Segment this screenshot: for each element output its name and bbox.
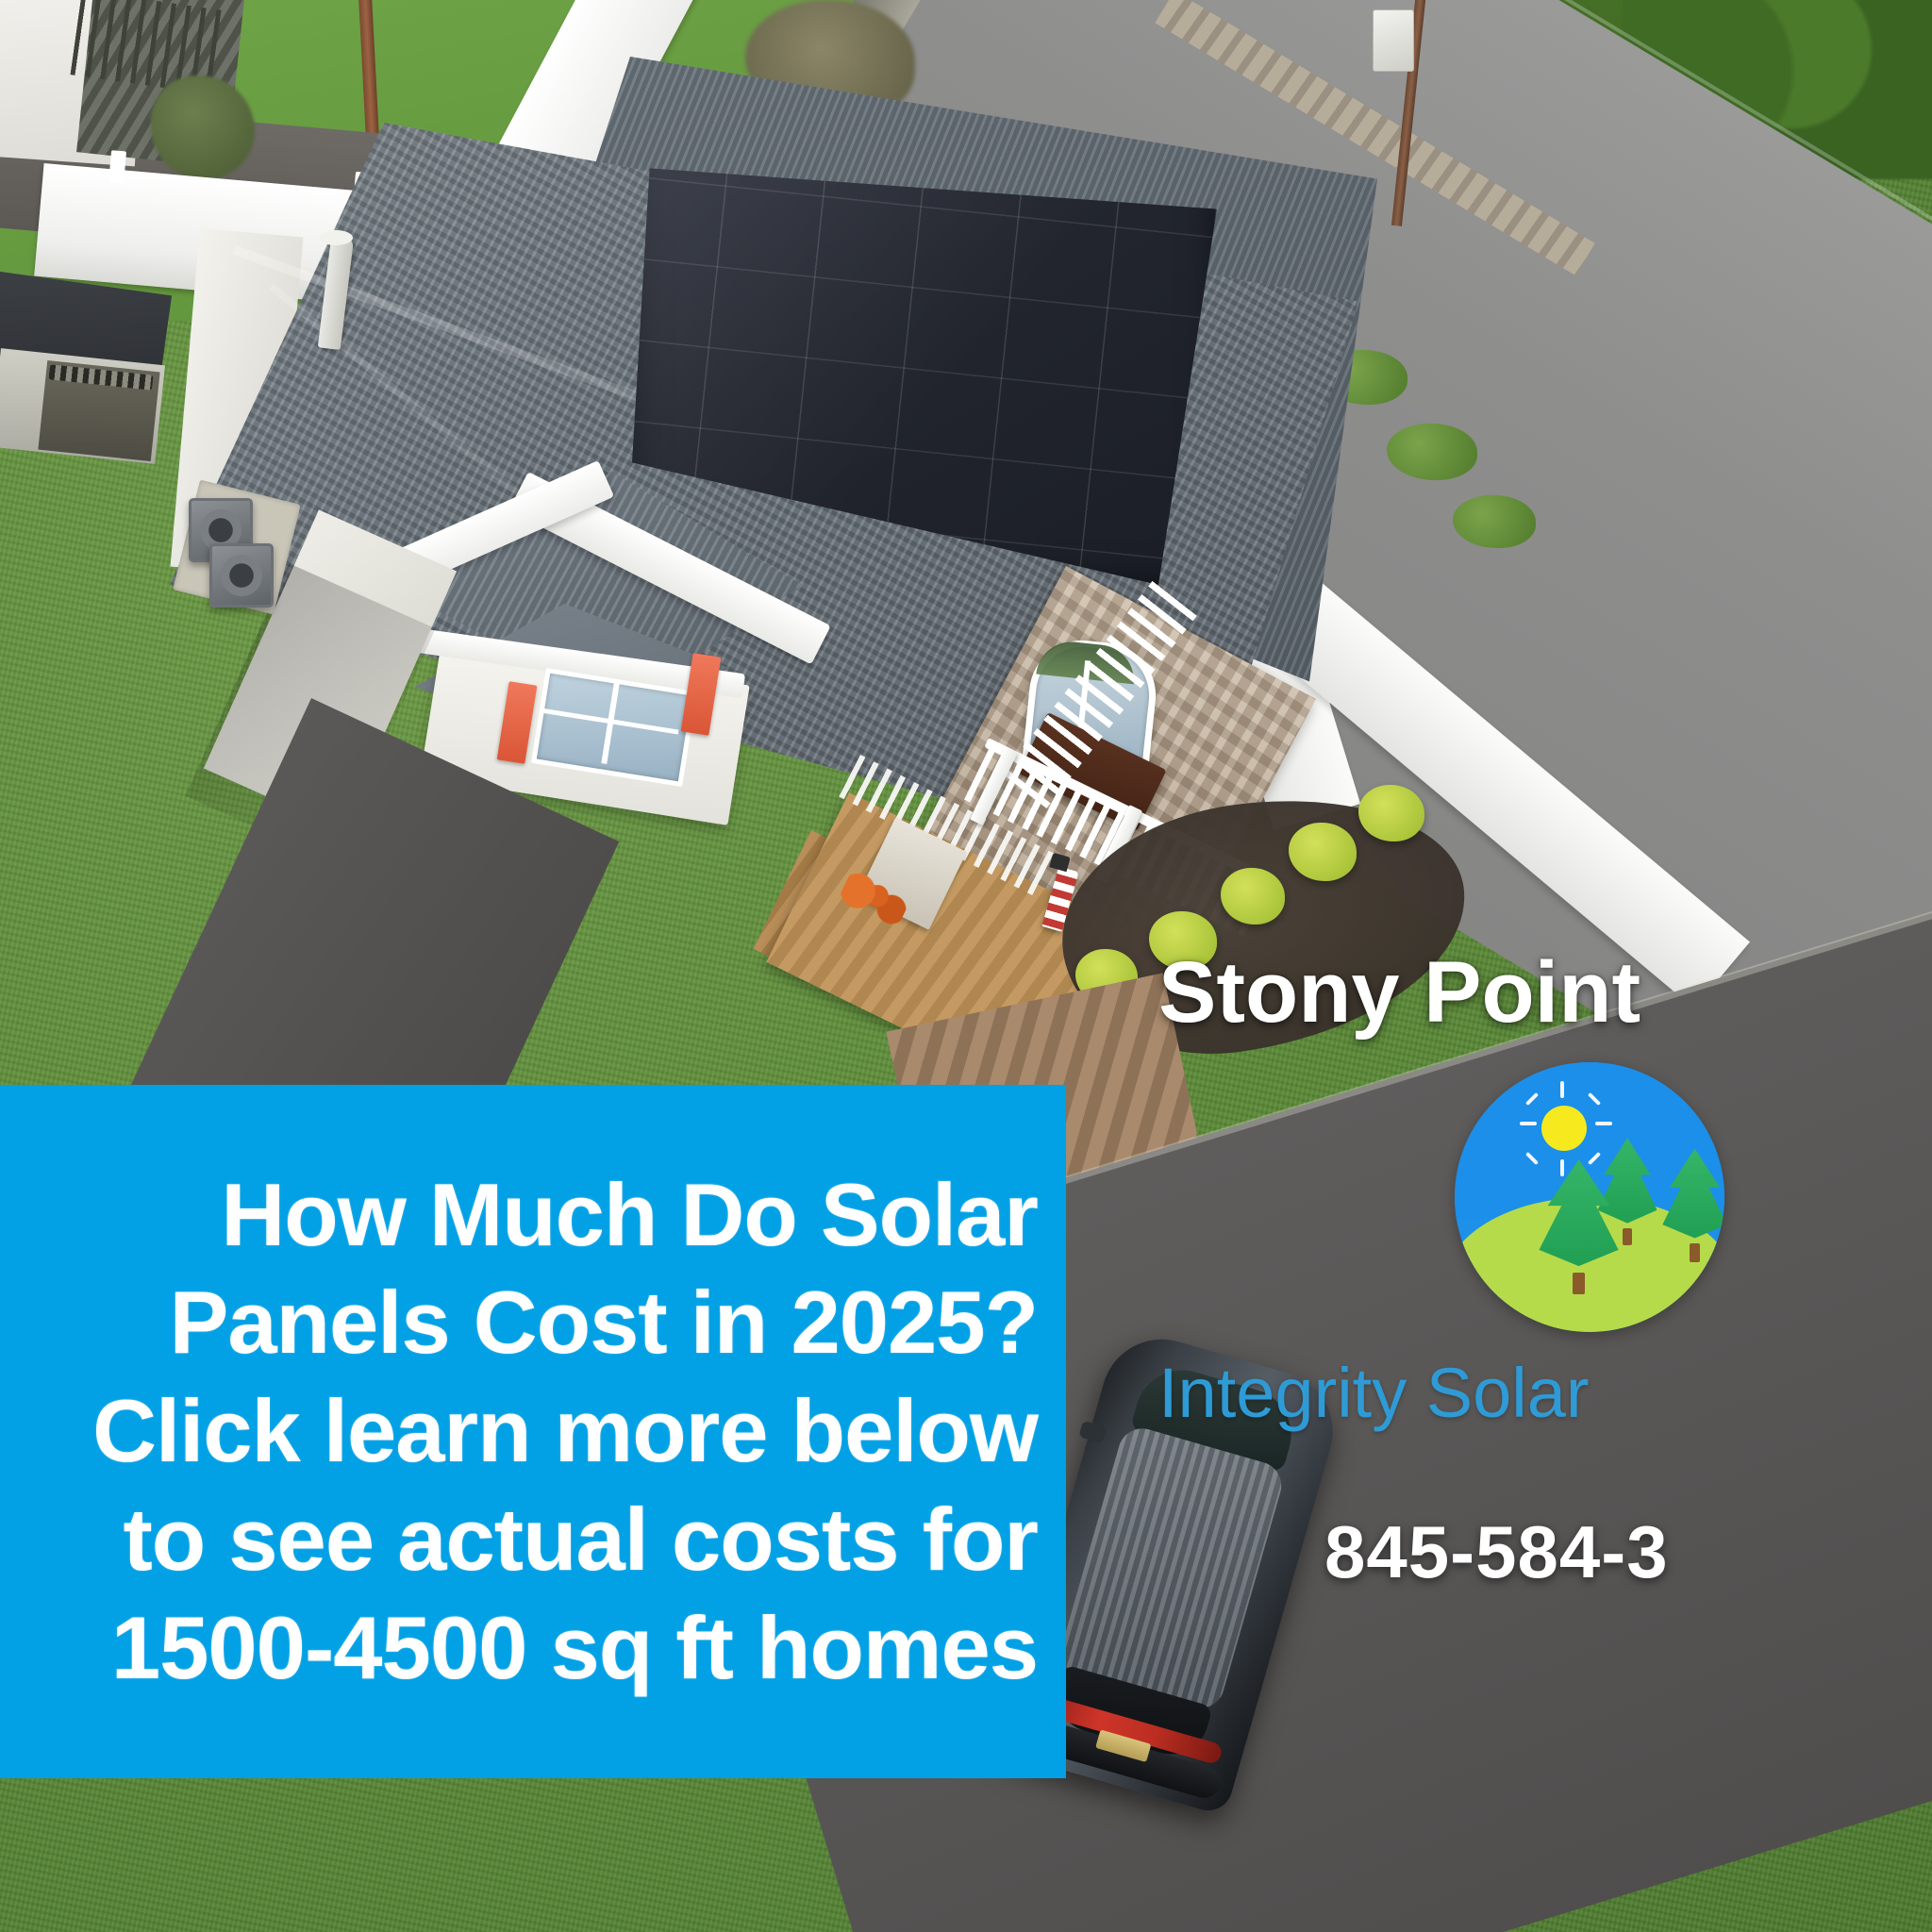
screenshot-root: How Much Do Solar Panels Cost in 2025? C… [0, 0, 1932, 1932]
shrub-4 [1289, 823, 1357, 881]
ac-unit-2 [209, 543, 274, 608]
promo-text-overlay: How Much Do Solar Panels Cost in 2025? C… [0, 1085, 1066, 1778]
promo-line-4: to see actual costs for [0, 1486, 1045, 1594]
promo-line-5: 1500-4500 sq ft homes [0, 1594, 1045, 1703]
promo-line-3: Click learn more below [0, 1377, 1045, 1486]
shrub-2 [1149, 911, 1217, 970]
shrub-3 [1221, 868, 1285, 924]
shrub-5 [1358, 785, 1424, 841]
promo-line-1: How Much Do Solar [0, 1161, 1045, 1270]
roof-vent-cap [319, 230, 353, 245]
promo-line-2: Panels Cost in 2025? [0, 1269, 1045, 1377]
